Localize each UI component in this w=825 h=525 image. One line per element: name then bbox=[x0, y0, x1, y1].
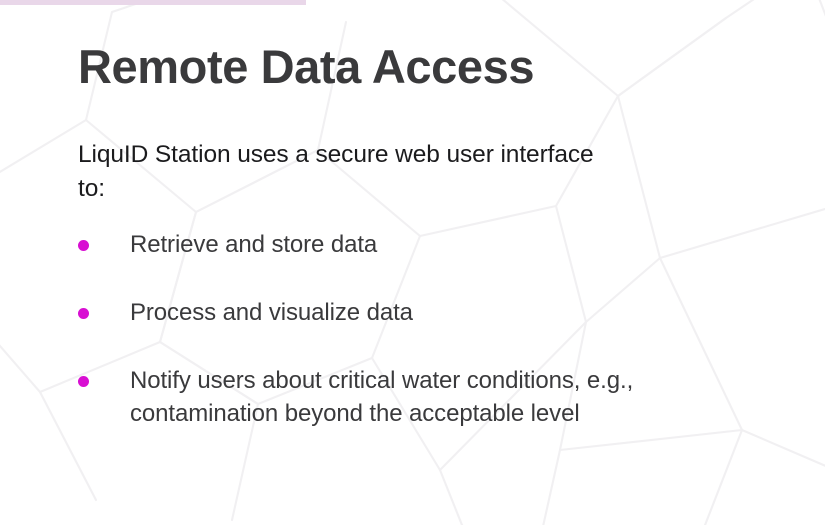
list-item-label: Notify users about critical water condit… bbox=[130, 364, 758, 432]
list-item: Retrieve and store data bbox=[78, 228, 758, 262]
intro-paragraph: LiquID Station uses a secure web user in… bbox=[78, 138, 618, 206]
list-item-label: Retrieve and store data bbox=[130, 228, 758, 262]
slide-canvas: Remote Data Access LiquID Station uses a… bbox=[0, 0, 825, 525]
list-item: Process and visualize data bbox=[78, 296, 758, 330]
bullet-dot-icon bbox=[78, 308, 89, 319]
bullet-list: Retrieve and store data Process and visu… bbox=[78, 228, 758, 431]
slide-content: Remote Data Access LiquID Station uses a… bbox=[0, 0, 825, 525]
bullet-dot-icon bbox=[78, 376, 89, 387]
list-item-label: Process and visualize data bbox=[130, 296, 758, 330]
accent-bar bbox=[0, 0, 306, 5]
list-item: Notify users about critical water condit… bbox=[78, 364, 758, 432]
page-title: Remote Data Access bbox=[78, 41, 534, 94]
bullet-dot-icon bbox=[78, 240, 89, 251]
